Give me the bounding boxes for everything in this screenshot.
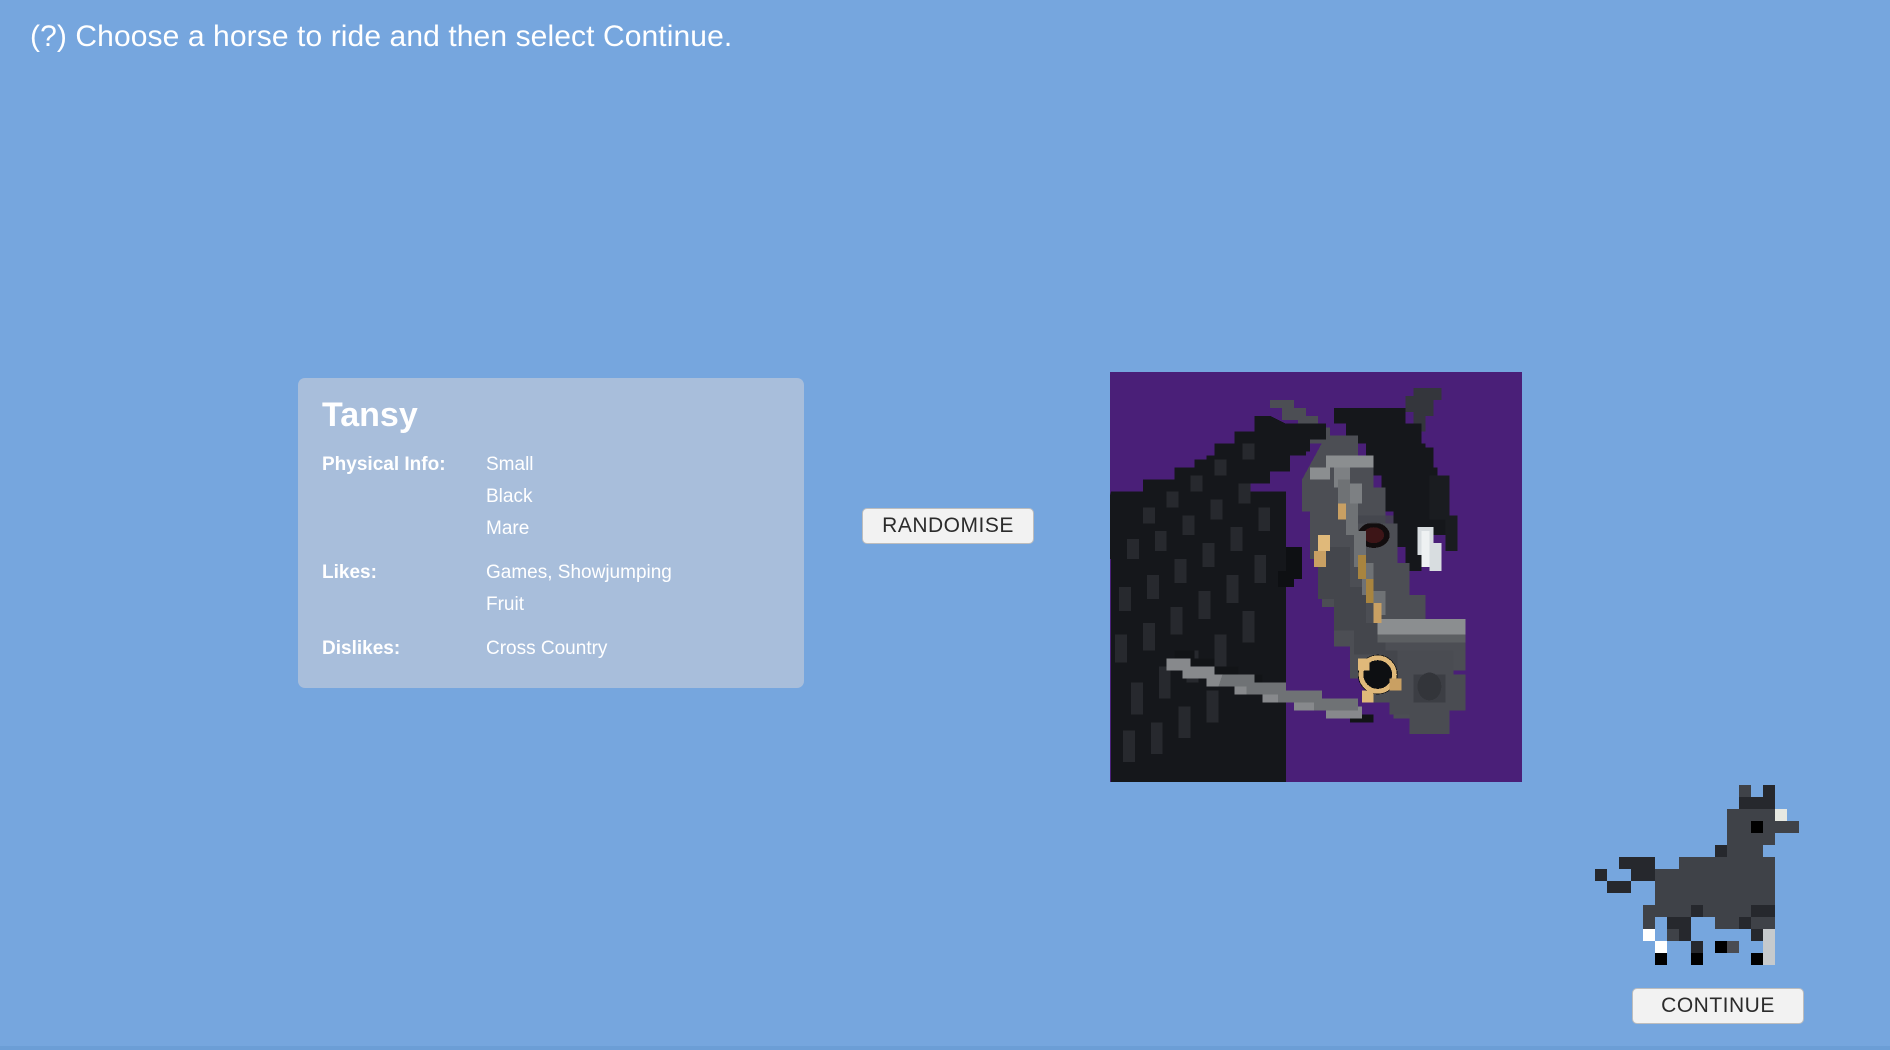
info-value: Cross Country	[486, 638, 607, 660]
randomise-button[interactable]: RANDOMISE	[862, 508, 1034, 544]
info-value: Small	[486, 454, 534, 476]
info-row: Dislikes: Cross Country	[322, 638, 792, 670]
info-value: Mare	[486, 518, 529, 540]
info-row: Likes: Games, Showjumping	[322, 562, 792, 594]
horse-portrait-image[interactable]	[1110, 372, 1522, 782]
info-label: Dislikes:	[322, 638, 400, 660]
info-row: Black	[322, 486, 792, 518]
instruction-text: (?) Choose a horse to ride and then sele…	[30, 18, 732, 56]
horse-attribute-list: Physical Info: Small Black Mare Likes: G…	[322, 454, 792, 670]
galloping-horse-sprite	[1595, 785, 1811, 965]
info-row: Physical Info: Small	[322, 454, 792, 486]
horse-name: Tansy	[322, 396, 418, 435]
galloping-horse-svg	[1595, 785, 1811, 965]
info-row: Fruit	[322, 594, 792, 626]
continue-button[interactable]: CONTINUE	[1632, 988, 1804, 1024]
instruction-bar: (?) Choose a horse to ride and then sele…	[0, 0, 1890, 60]
info-row: Mare	[322, 518, 792, 550]
info-label: Likes:	[322, 562, 377, 584]
info-value: Black	[486, 486, 532, 508]
horse-portrait-svg	[1110, 372, 1522, 782]
horse-info-card: Tansy Physical Info: Small Black Mare Li…	[298, 378, 804, 688]
bottom-edge-band	[0, 1046, 1890, 1050]
info-value: Games, Showjumping	[486, 562, 672, 584]
info-value: Fruit	[486, 594, 524, 616]
info-label: Physical Info:	[322, 454, 446, 476]
